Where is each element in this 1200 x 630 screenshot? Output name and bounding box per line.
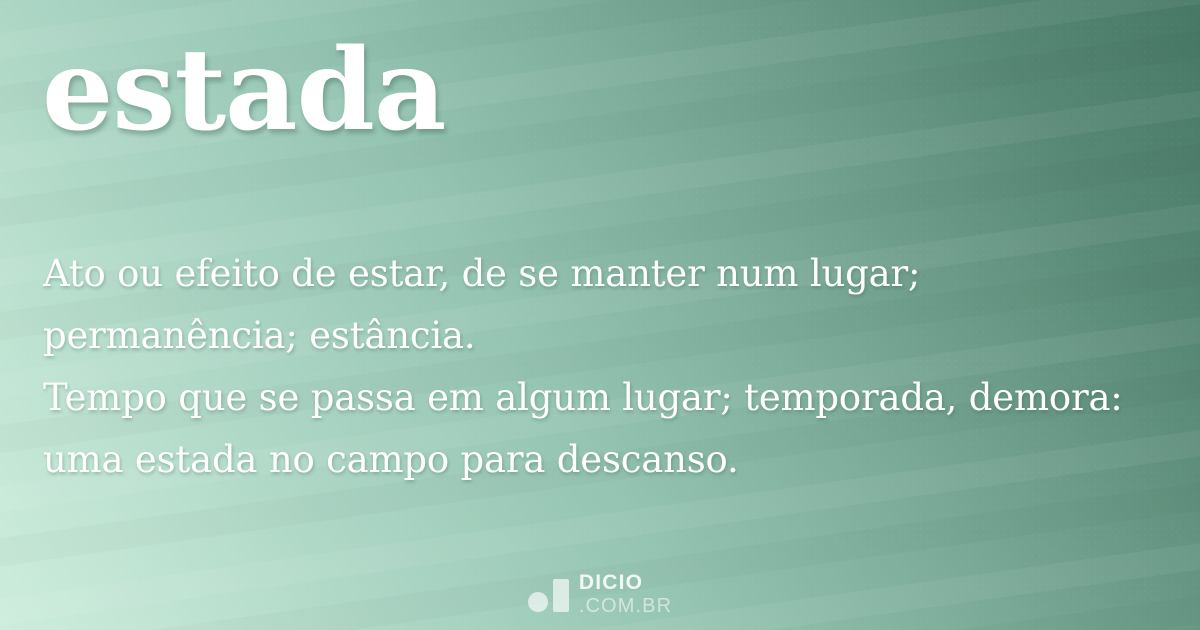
circle-icon	[528, 592, 548, 612]
logo-mark	[528, 576, 569, 612]
card-content: estada Ato ou efeito de estar, de se man…	[0, 0, 1200, 630]
logo-name: DICIO	[579, 572, 672, 593]
rounded-bar-icon	[553, 579, 569, 612]
definition-item: Ato ou efeito de estar, de se manter num…	[43, 243, 1163, 367]
site-logo: DICIO .COM.BR	[0, 572, 1200, 616]
headword-title: estada	[42, 28, 446, 153]
definition-list: Ato ou efeito de estar, de se manter num…	[43, 243, 1163, 491]
logo-wordmark: DICIO .COM.BR	[579, 572, 672, 616]
logo-tld: .COM.BR	[579, 596, 672, 616]
definition-item: Tempo que se passa em algum lugar; tempo…	[43, 367, 1163, 491]
definition-card: estada Ato ou efeito de estar, de se man…	[0, 0, 1200, 630]
